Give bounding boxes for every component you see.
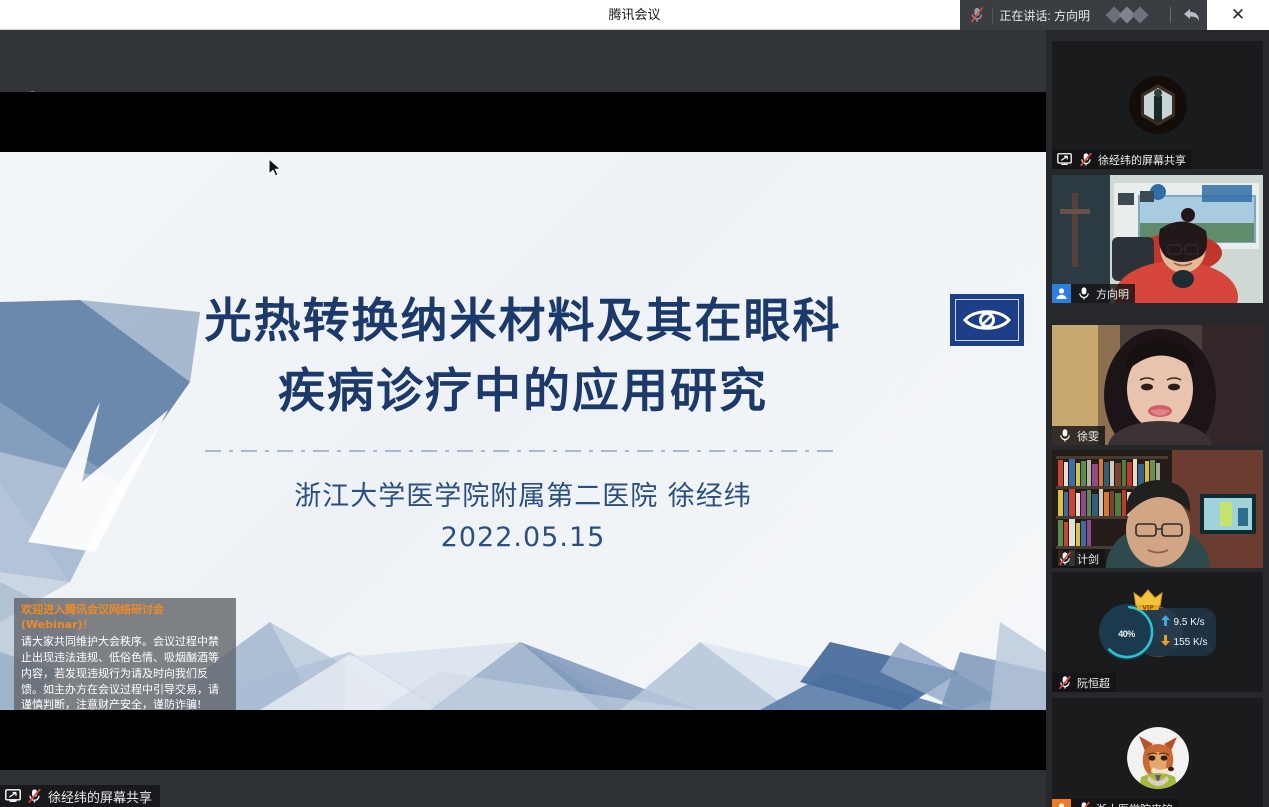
participant-tile-zhedayixueyuanlaiming[interactable]: 浙大医学院来铭 — [1052, 698, 1263, 807]
tile-name-label: 阮恒超 — [1077, 675, 1110, 691]
bottom-status-label: 徐经纬的屏幕共享 — [48, 787, 152, 806]
mic-muted-icon — [26, 788, 43, 805]
letterbox-top — [0, 92, 1046, 152]
upload-row: 9.5 K/s — [1161, 613, 1208, 631]
slide-title-line1: 光热转换纳米材料及其在眼科 — [0, 287, 1046, 357]
tile-nametag: 计剑 — [1052, 549, 1105, 568]
mic-muted-icon — [1056, 550, 1073, 567]
avatar — [1129, 76, 1187, 134]
slide-divider — [205, 450, 841, 452]
mic-muted-icon — [1075, 800, 1092, 807]
slide-date: 2022.05.15 — [0, 522, 1046, 553]
screen-share-icon — [4, 788, 21, 805]
participant-rail[interactable]: 徐经纬的屏幕共享 — [1046, 30, 1269, 807]
title-bar: 腾讯会议 正在讲话: 方向明 — [0, 0, 1269, 30]
webinar-notice-title: 欢迎进入腾讯会议网络研讨会(Webinar)！ — [21, 603, 229, 633]
tile-nametag: 徐经纬的屏幕共享 — [1052, 150, 1192, 169]
letterbox-bottom — [0, 710, 1046, 770]
screen-share-icon — [1056, 151, 1073, 168]
upload-speed: 9.5 K/s — [1174, 617, 1205, 628]
meeting-window: 腾讯会议 正在讲话: 方向明 — [0, 0, 1269, 807]
close-button[interactable]: ✕ — [1207, 0, 1269, 30]
participant-tile-ruanhengchao[interactable]: 40% 9.5 K/s 155 K/s — [1052, 572, 1263, 692]
tile-name-label: 徐雯 — [1077, 428, 1099, 444]
webinar-notice-body: 请大家共同维护大会秩序。会议过程中禁止出现违法违规、低俗色情、吸烟酗酒等内容，若… — [21, 634, 229, 710]
tile-nametag: 徐雯 — [1052, 426, 1105, 445]
diamonds-icon — [1104, 4, 1160, 26]
tile-nametag: 浙大医学院来铭 — [1052, 799, 1179, 807]
mic-on-icon — [1056, 427, 1073, 444]
vip-label: VIP — [1142, 605, 1154, 612]
host-badge-icon — [1052, 799, 1071, 807]
slide-title-line2: 疾病诊疗中的应用研究 — [0, 357, 1046, 427]
recording-bar — [0, 30, 1046, 92]
tile-name-label: 计剑 — [1077, 551, 1099, 567]
tile-name-label: 浙大医学院来铭 — [1096, 801, 1173, 807]
crown-icon: VIP — [1133, 588, 1163, 617]
participant-tile-screen-share[interactable]: 徐经纬的屏幕共享 — [1052, 41, 1263, 169]
back-arrow-icon[interactable] — [1181, 4, 1203, 26]
webinar-notice: 欢迎进入腾讯会议网络研讨会(Webinar)！ 请大家共同维护大会秩序。会议过程… — [14, 598, 236, 710]
slide-affiliation: 浙江大学医学院附属第二医院 徐经纬 — [0, 474, 1046, 513]
mic-muted-icon — [1077, 151, 1094, 168]
participant-tile-xuwen[interactable]: 徐雯 — [1052, 325, 1263, 445]
download-row: 155 K/s — [1161, 633, 1208, 651]
mic-muted-icon — [1056, 674, 1073, 691]
participant-tile-fangxiangming[interactable]: 方向明 — [1052, 175, 1263, 303]
presentation-slide: 光热转换纳米材料及其在眼科 疾病诊疗中的应用研究 浙江大学医学院附属第二医院 徐… — [0, 152, 1046, 710]
host-badge-icon — [1052, 284, 1071, 303]
mic-on-icon — [1075, 285, 1092, 302]
tile-nametag: 阮恒超 — [1052, 673, 1116, 692]
download-speed: 155 K/s — [1174, 637, 1208, 648]
tile-name-label: 方向明 — [1096, 286, 1129, 302]
title-bar-speaking-panel: 正在讲话: 方向明 — [960, 0, 1207, 30]
divider — [1170, 7, 1171, 23]
tile-name-label: 徐经纬的屏幕共享 — [1098, 152, 1186, 168]
arrow-down-icon — [1161, 633, 1170, 651]
participant-tile-jijian[interactable]: 计剑 — [1052, 450, 1263, 568]
slide-title: 光热转换纳米材料及其在眼科 疾病诊疗中的应用研究 — [0, 287, 1046, 426]
bottom-status-bar: 徐经纬的屏幕共享 — [0, 785, 160, 807]
mic-muted-icon — [968, 5, 986, 25]
avatar — [1127, 727, 1189, 789]
active-speaker-label: 正在讲话: 方向明 — [992, 7, 1096, 24]
network-stats-widget: 40% 9.5 K/s 155 K/s — [1099, 604, 1217, 660]
tile-nametag: 方向明 — [1052, 284, 1135, 303]
mouse-cursor — [268, 158, 282, 183]
shared-screen-stage: 录制中 — [0, 30, 1046, 807]
